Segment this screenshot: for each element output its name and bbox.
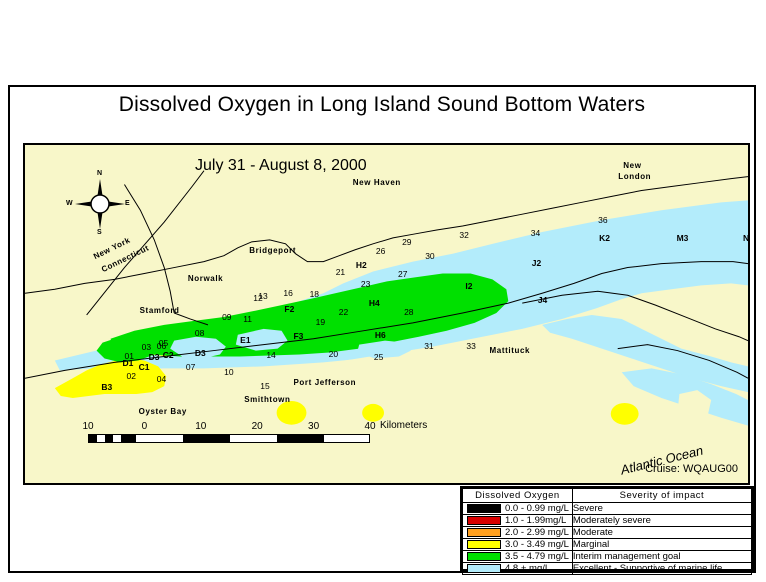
scale-tick-labels: 10010203040 xyxy=(88,421,388,433)
station-label-02[interactable]: 02 xyxy=(127,371,136,381)
station-label-b3[interactable]: B3 xyxy=(101,382,112,392)
legend-range-cell: 4.8 + mg/L xyxy=(463,563,573,575)
place-label-stamford: Stamford xyxy=(140,306,180,315)
legend-impact-label: Moderate xyxy=(572,527,751,539)
scale-tick-2: 10 xyxy=(195,421,206,432)
station-label-10[interactable]: 10 xyxy=(224,367,233,377)
station-label-h2[interactable]: H2 xyxy=(356,260,367,270)
place-label-london: London xyxy=(618,172,651,181)
station-label-04[interactable]: 04 xyxy=(157,374,166,384)
compass-w: W xyxy=(66,200,73,207)
legend-row: 0.0 - 0.99 mg/LSevere xyxy=(463,503,752,515)
scale-bar-graphic xyxy=(88,434,370,443)
legend: Dissolved Oxygen Severity of impact 0.0 … xyxy=(460,486,754,571)
station-label-27[interactable]: 27 xyxy=(398,269,407,279)
station-label-07[interactable]: 07 xyxy=(186,362,195,372)
scale-tick-1: 0 xyxy=(142,421,148,432)
station-label-33[interactable]: 33 xyxy=(466,341,475,351)
station-label-11[interactable]: 11 xyxy=(243,314,252,324)
station-label-28[interactable]: 28 xyxy=(404,307,413,317)
legend-impact-label: Marginal xyxy=(572,539,751,551)
legend-body: 0.0 - 0.99 mg/LSevere1.0 - 1.99mg/LModer… xyxy=(463,503,752,575)
legend-range-cell: 1.0 - 1.99mg/L xyxy=(463,515,573,527)
station-label-31[interactable]: 31 xyxy=(424,341,433,351)
scale-tick-0: 10 xyxy=(82,421,93,432)
station-label-09[interactable]: 09 xyxy=(222,312,231,322)
station-label-22[interactable]: 22 xyxy=(339,307,348,317)
station-label-f3[interactable]: F3 xyxy=(293,331,303,341)
legend-range-cell: 0.0 - 0.99 mg/L xyxy=(463,503,573,515)
place-label-oyster-bay: Oyster Bay xyxy=(139,407,187,416)
scale-units-label: Kilometers xyxy=(380,420,427,431)
place-label-mattituck: Mattituck xyxy=(490,346,531,355)
place-label-new: New xyxy=(623,161,641,170)
legend-range-cell: 2.0 - 2.99 mg/L xyxy=(463,527,573,539)
legend-range-label: 2.0 - 2.99 mg/L xyxy=(505,527,569,538)
legend-range-cell: 3.5 - 4.79 mg/L xyxy=(463,551,573,563)
legend-range-label: 3.0 - 3.49 mg/L xyxy=(505,539,569,550)
station-label-03[interactable]: 03 xyxy=(142,342,151,352)
legend-range-label: 0.0 - 0.99 mg/L xyxy=(505,503,569,514)
legend-impact-label: Excellent - Supportive of marine life xyxy=(572,563,751,575)
compass-n: N xyxy=(97,170,102,177)
place-label-port-jefferson: Port Jefferson xyxy=(293,378,356,387)
station-label-e1[interactable]: E1 xyxy=(240,335,250,345)
station-label-d3[interactable]: D3 xyxy=(149,352,160,362)
compass-e: E xyxy=(125,200,130,207)
station-label-30[interactable]: 30 xyxy=(425,251,434,261)
legend-color-swatch xyxy=(467,504,501,513)
station-label-i2[interactable]: I2 xyxy=(465,281,472,291)
station-label-25[interactable]: 25 xyxy=(374,352,383,362)
map-canvas[interactable]: July 31 - August 8, 2000 Cruise: WQAUG00… xyxy=(23,143,750,485)
station-label-26[interactable]: 26 xyxy=(376,246,385,256)
station-label-j2[interactable]: J2 xyxy=(532,258,541,268)
legend-row: 1.0 - 1.99mg/LModerately severe xyxy=(463,515,752,527)
station-label-34[interactable]: 34 xyxy=(531,228,540,238)
legend-header-row: Dissolved Oxygen Severity of impact xyxy=(463,489,752,503)
compass-rose: N S E W xyxy=(69,173,131,235)
station-label-c1[interactable]: C1 xyxy=(139,362,150,372)
scale-tick-5: 40 xyxy=(364,421,375,432)
station-label-32[interactable]: 32 xyxy=(459,230,468,240)
station-label-18[interactable]: 18 xyxy=(310,289,319,299)
station-label-k2[interactable]: K2 xyxy=(599,233,610,243)
legend-row: 3.5 - 4.79 mg/LInterim management goal xyxy=(463,551,752,563)
legend-row: 3.0 - 3.49 mg/LMarginal xyxy=(463,539,752,551)
station-label-13[interactable]: 13 xyxy=(258,291,267,301)
legend-row: 2.0 - 2.99 mg/LModerate xyxy=(463,527,752,539)
legend-range-cell: 3.0 - 3.49 mg/L xyxy=(463,539,573,551)
legend-impact-label: Severe xyxy=(572,503,751,515)
station-label-15[interactable]: 15 xyxy=(260,381,269,391)
page-title: Dissolved Oxygen in Long Island Sound Bo… xyxy=(10,93,754,117)
legend-range-label: 1.0 - 1.99mg/L xyxy=(505,515,566,526)
scale-bar: 10010203040 Kilometers xyxy=(88,421,388,447)
compass-s: S xyxy=(97,229,102,236)
legend-color-swatch xyxy=(467,552,501,561)
legend-header-impact: Severity of impact xyxy=(572,489,751,503)
station-label-01[interactable]: 01 xyxy=(125,351,134,361)
station-label-m3[interactable]: M3 xyxy=(677,233,689,243)
date-range-label: July 31 - August 8, 2000 xyxy=(195,157,367,175)
place-label-bridgeport: Bridgeport xyxy=(249,246,296,255)
legend-impact-label: Interim management goal xyxy=(572,551,751,563)
station-label-06[interactable]: 06 xyxy=(157,341,166,351)
legend-range-label: 3.5 - 4.79 mg/L xyxy=(505,551,569,562)
station-label-36[interactable]: 36 xyxy=(598,215,607,225)
station-label-29[interactable]: 29 xyxy=(402,237,411,247)
station-label-20[interactable]: 20 xyxy=(329,349,338,359)
station-label-h6[interactable]: H6 xyxy=(375,330,386,340)
station-label-14[interactable]: 14 xyxy=(266,350,275,360)
legend-color-swatch xyxy=(467,564,501,573)
legend-impact-label: Moderately severe xyxy=(572,515,751,527)
station-label-c2[interactable]: C2 xyxy=(163,350,174,360)
station-label-08[interactable]: 08 xyxy=(195,328,204,338)
legend-color-swatch xyxy=(467,516,501,525)
legend-table: Dissolved Oxygen Severity of impact 0.0 … xyxy=(462,488,752,575)
zone-marginal-f3-east xyxy=(611,403,639,425)
place-label-norwalk: Norwalk xyxy=(188,274,223,283)
station-label-16[interactable]: 16 xyxy=(283,288,292,298)
compass-icon xyxy=(69,173,131,235)
legend-color-swatch xyxy=(467,540,501,549)
legend-color-swatch xyxy=(467,528,501,537)
legend-range-label: 4.8 + mg/L xyxy=(505,563,550,574)
station-label-f2[interactable]: F2 xyxy=(284,304,294,314)
station-label-j4[interactable]: J4 xyxy=(538,295,547,305)
map-poster: Dissolved Oxygen in Long Island Sound Bo… xyxy=(8,85,756,573)
place-label-new-haven: New Haven xyxy=(353,178,401,187)
scale-tick-3: 20 xyxy=(252,421,263,432)
scale-tick-4: 30 xyxy=(308,421,319,432)
station-label-h4[interactable]: H4 xyxy=(369,298,380,308)
legend-row: 4.8 + mg/LExcellent - Supportive of mari… xyxy=(463,563,752,575)
station-label-n3[interactable]: N3 xyxy=(743,233,750,243)
station-label-d3b[interactable]: D3 xyxy=(195,348,206,358)
station-label-19[interactable]: 19 xyxy=(316,317,325,327)
legend-header-range: Dissolved Oxygen xyxy=(463,489,573,503)
station-label-23[interactable]: 23 xyxy=(361,279,370,289)
place-label-smithtown: Smithtown xyxy=(244,395,290,404)
station-label-21[interactable]: 21 xyxy=(336,267,345,277)
